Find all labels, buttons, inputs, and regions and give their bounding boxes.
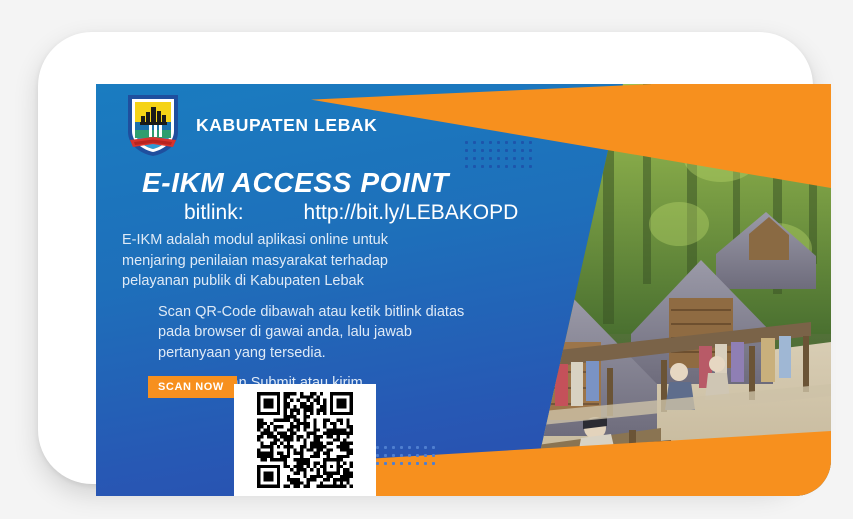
decor-dot bbox=[384, 454, 387, 457]
decor-dot bbox=[481, 157, 484, 160]
decor-dot bbox=[432, 446, 435, 449]
decor-dot bbox=[481, 149, 484, 152]
decor-dot bbox=[497, 141, 500, 144]
decor-dot bbox=[465, 149, 468, 152]
decor-dot bbox=[416, 454, 419, 457]
decor-dot bbox=[424, 462, 427, 465]
decor-dot bbox=[400, 462, 403, 465]
qr-code[interactable] bbox=[234, 384, 376, 496]
decor-dot bbox=[481, 165, 484, 168]
body-copy: E-IKM adalah modul aplikasi online untuk… bbox=[122, 230, 572, 394]
bitlink-row: bitlink: http://bit.ly/LEBAKOPD bbox=[184, 201, 518, 225]
decor-dot bbox=[424, 454, 427, 457]
decor-dot bbox=[529, 141, 532, 144]
decor-dot bbox=[529, 149, 532, 152]
intro-line-3: pelayanan publik di Kabupaten Lebak bbox=[122, 271, 572, 292]
decor-dot bbox=[392, 462, 395, 465]
decor-dot bbox=[376, 462, 379, 465]
decor-dot bbox=[376, 446, 379, 449]
decor-dot bbox=[521, 149, 524, 152]
poster-stage: KABUPATEN LEBAK E-IKM ACCESS POINT bitli… bbox=[0, 0, 853, 519]
step-line-1: Scan QR-Code dibawah atau ketik bitlink … bbox=[158, 302, 572, 323]
decor-dot bbox=[465, 165, 468, 168]
decor-dot bbox=[513, 149, 516, 152]
decor-dot bbox=[408, 446, 411, 449]
decor-dot bbox=[489, 141, 492, 144]
decor-dot bbox=[513, 165, 516, 168]
decor-dot bbox=[473, 149, 476, 152]
decor-dot bbox=[521, 157, 524, 160]
dot-grid-top bbox=[465, 141, 532, 168]
step-line-2: pada browser di gawai anda, lalu jawab bbox=[158, 322, 572, 343]
poster-panel: KABUPATEN LEBAK E-IKM ACCESS POINT bitli… bbox=[96, 84, 831, 496]
decor-dot bbox=[505, 165, 508, 168]
decor-dot bbox=[505, 157, 508, 160]
dot-grid-bottom bbox=[376, 446, 435, 465]
decor-dot bbox=[392, 446, 395, 449]
poster-card: KABUPATEN LEBAK E-IKM ACCESS POINT bitli… bbox=[38, 32, 813, 484]
intro-line-1: E-IKM adalah modul aplikasi online untuk bbox=[122, 230, 572, 251]
step-line-3: pertanyaan yang tersedia. bbox=[158, 343, 572, 364]
decor-dot bbox=[408, 454, 411, 457]
decor-dot bbox=[505, 141, 508, 144]
bitlink-label: bitlink: bbox=[184, 201, 244, 225]
poster-header: KABUPATEN LEBAK bbox=[124, 92, 377, 158]
decor-dot bbox=[465, 157, 468, 160]
decor-dot bbox=[505, 149, 508, 152]
decor-dot bbox=[529, 165, 532, 168]
decor-dot bbox=[497, 149, 500, 152]
decor-dot bbox=[416, 462, 419, 465]
decor-dot bbox=[432, 454, 435, 457]
decor-dot bbox=[489, 157, 492, 160]
kabupaten-lebak-coat-of-arms-icon bbox=[124, 92, 182, 158]
decor-dot bbox=[513, 157, 516, 160]
decor-dot bbox=[481, 141, 484, 144]
decor-dot bbox=[513, 141, 516, 144]
bitlink-url[interactable]: http://bit.ly/LEBAKOPD bbox=[304, 201, 519, 225]
decor-dot bbox=[384, 446, 387, 449]
scan-now-badge[interactable]: SCAN NOW bbox=[148, 376, 237, 398]
region-label: KABUPATEN LEBAK bbox=[196, 115, 377, 136]
decor-dot bbox=[432, 462, 435, 465]
intro-line-2: menjaring penilaian masyarakat terhadap bbox=[122, 251, 572, 272]
decor-dot bbox=[424, 446, 427, 449]
decor-dot bbox=[489, 165, 492, 168]
decor-dot bbox=[376, 454, 379, 457]
decor-dot bbox=[416, 446, 419, 449]
decor-dot bbox=[497, 157, 500, 160]
decor-dot bbox=[529, 157, 532, 160]
decor-dot bbox=[497, 165, 500, 168]
decor-dot bbox=[384, 462, 387, 465]
decor-dot bbox=[473, 157, 476, 160]
decor-dot bbox=[473, 165, 476, 168]
decor-dot bbox=[489, 149, 492, 152]
decor-dot bbox=[408, 462, 411, 465]
decor-dot bbox=[465, 141, 468, 144]
page-title: E-IKM ACCESS POINT bbox=[142, 167, 449, 199]
decor-dot bbox=[392, 454, 395, 457]
decor-dot bbox=[521, 141, 524, 144]
decor-dot bbox=[400, 446, 403, 449]
decor-dot bbox=[400, 454, 403, 457]
decor-dot bbox=[521, 165, 524, 168]
decor-dot bbox=[473, 141, 476, 144]
